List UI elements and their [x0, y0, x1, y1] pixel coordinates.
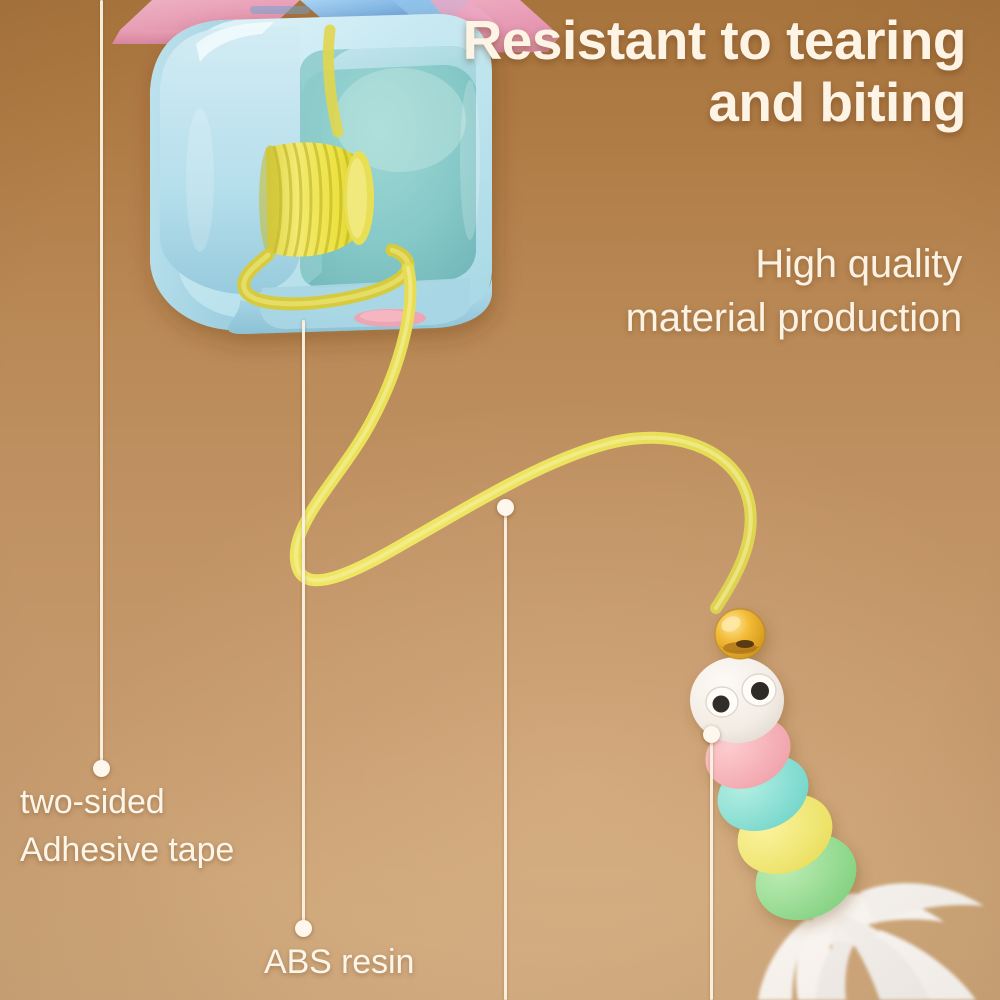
- callout-dot-abs-resin: [295, 920, 312, 937]
- callout-dot-caterpillar: [703, 726, 720, 743]
- subheadline-text: High quality material production: [402, 238, 962, 345]
- headline-text: Resistant to tearing and biting: [326, 10, 966, 133]
- callout-dot-cord: [497, 499, 514, 516]
- callout-label-abs-resin: ABS resin: [264, 938, 414, 986]
- leader-line-cord: [504, 507, 507, 1000]
- bell: [715, 609, 765, 659]
- leader-line-abs-resin: [302, 320, 305, 928]
- product-marketing-image: Resistant to tearing and biting High qua…: [0, 0, 1000, 1000]
- callout-dot-adhesive-tape: [93, 760, 110, 777]
- eye-right: [742, 674, 776, 706]
- leader-line-adhesive-tape: [100, 0, 103, 768]
- eye-left: [706, 687, 738, 717]
- leader-line-caterpillar: [710, 734, 713, 1000]
- callout-label-adhesive-tape: two-sided Adhesive tape: [20, 778, 234, 875]
